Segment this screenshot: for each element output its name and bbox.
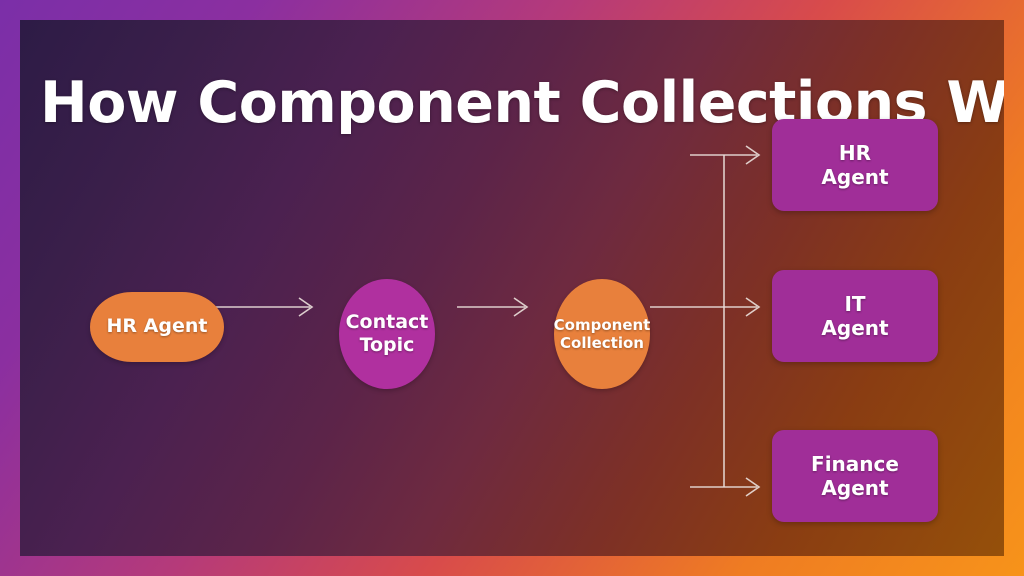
node-hr-agent-target-line-1: HR (821, 141, 888, 165)
node-it-agent[interactable]: IT Agent (772, 270, 938, 362)
node-component-collection-label: Component Collection (554, 316, 651, 353)
node-component-collection-line-1: Component (554, 316, 651, 334)
slide-inner-panel: How Component Collections Work (20, 20, 1004, 556)
node-hr-agent-source[interactable]: HR Agent (90, 292, 224, 362)
node-contact-topic[interactable]: Contact Topic (339, 279, 435, 389)
node-finance-agent-line-1: Finance (811, 452, 899, 476)
node-hr-agent-source-label: HR Agent (107, 315, 208, 338)
node-contact-topic-line-2: Topic (346, 334, 429, 357)
node-contact-topic-line-1: Contact (346, 311, 429, 334)
node-contact-topic-label: Contact Topic (346, 311, 429, 357)
slide-canvas: How Component Collections Work (0, 0, 1024, 576)
edge-hr-agent-to-contact-topic (207, 298, 312, 316)
edge-branch-to-it-agent (650, 298, 759, 316)
node-finance-agent[interactable]: Finance Agent (772, 430, 938, 522)
edge-contact-topic-to-component-collection (457, 298, 527, 316)
node-hr-agent-source-line-1: HR Agent (107, 315, 208, 337)
node-hr-agent-target-label: HR Agent (821, 141, 888, 190)
node-it-agent-line-1: IT (821, 292, 888, 316)
node-it-agent-label: IT Agent (821, 292, 888, 341)
node-hr-agent-target[interactable]: HR Agent (772, 119, 938, 211)
node-finance-agent-line-2: Agent (811, 476, 899, 500)
node-component-collection[interactable]: Component Collection (554, 279, 650, 389)
node-finance-agent-label: Finance Agent (811, 452, 899, 501)
node-component-collection-line-2: Collection (554, 334, 651, 352)
node-it-agent-line-2: Agent (821, 316, 888, 340)
edge-branch-to-hr-agent (690, 146, 759, 164)
edge-branch-to-finance-agent (690, 478, 759, 496)
node-hr-agent-target-line-2: Agent (821, 165, 888, 189)
